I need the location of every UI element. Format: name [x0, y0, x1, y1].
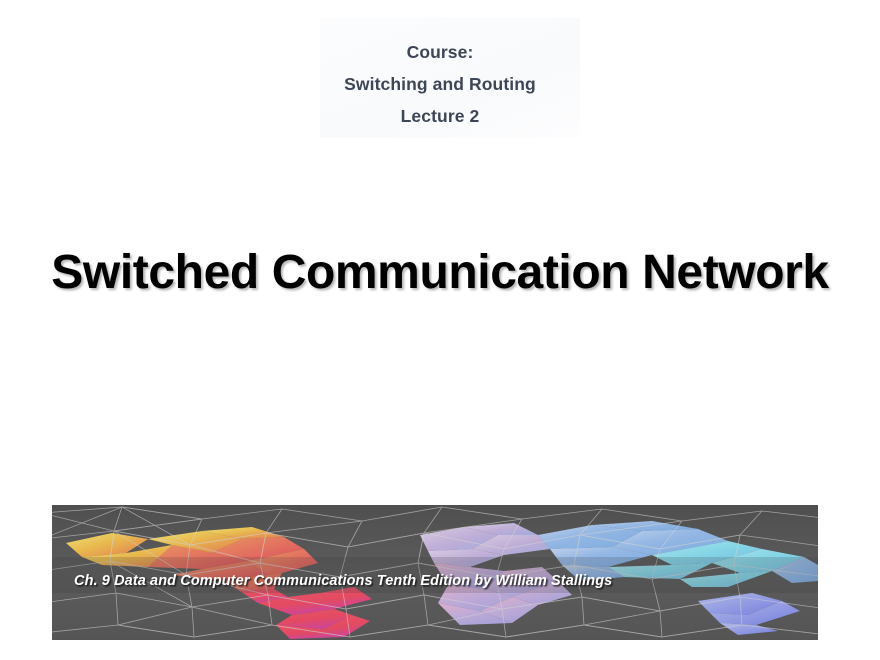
banner-image: Ch. 9 Data and Computer Communications T… [52, 505, 818, 640]
slide-header: Course: Switching and Routing Lecture 2 [0, 36, 880, 132]
title-container: Switched Communication Network [0, 248, 880, 298]
header-line-subject: Switching and Routing [0, 68, 880, 100]
header-line-course: Course: [0, 36, 880, 68]
header-line-lecture: Lecture 2 [0, 100, 880, 132]
page-title: Switched Communication Network [51, 248, 828, 298]
banner-caption: Ch. 9 Data and Computer Communications T… [74, 573, 612, 589]
